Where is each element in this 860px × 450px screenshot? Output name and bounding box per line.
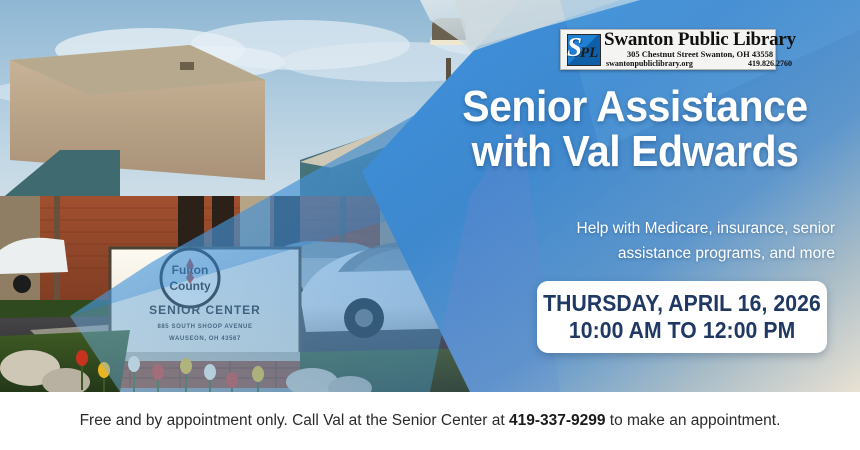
spl-monogram-icon: S PL [564, 33, 602, 66]
library-website: swantonpubliclibrary.org [606, 59, 693, 69]
event-datetime-badge: THURSDAY, APRIL 16, 2026 10:00 AM TO 12:… [537, 281, 827, 353]
footer-bar: Free and by appointment only. Call Val a… [0, 392, 860, 450]
library-address: 305 Chestnut Street Swanton, OH 43558 [604, 49, 796, 59]
logo-initials-pl: PL [580, 46, 598, 61]
event-title-line2: with Val Edwards [444, 129, 825, 174]
library-phone: 419.826.2760 [748, 59, 792, 69]
footer-note-suffix: to make an appointment. [605, 412, 780, 429]
event-title: Senior Assistance with Val Edwards [444, 84, 825, 174]
event-time: 10:00 AM TO 12:00 PM [569, 317, 795, 344]
contact-phone-number: 419-337-9299 [509, 412, 606, 429]
library-name: Swanton Public Library [604, 30, 796, 49]
event-description-line1: Help with Medicare, insurance, senior [480, 216, 835, 241]
footer-note-prefix: Free and by appointment only. Call Val a… [80, 412, 509, 429]
event-description-line2: assistance programs, and more [480, 241, 835, 266]
library-logo: S PL Swanton Public Library 305 Chestnut… [560, 29, 776, 70]
event-description: Help with Medicare, insurance, senior as… [480, 216, 835, 266]
event-title-line1: Senior Assistance [462, 82, 807, 131]
event-date: THURSDAY, APRIL 16, 2026 [543, 290, 821, 317]
footer-note: Free and by appointment only. Call Val a… [80, 411, 781, 431]
flyer-canvas: Fulton County SENIOR CENTER 885 SOUTH SH… [0, 0, 860, 450]
